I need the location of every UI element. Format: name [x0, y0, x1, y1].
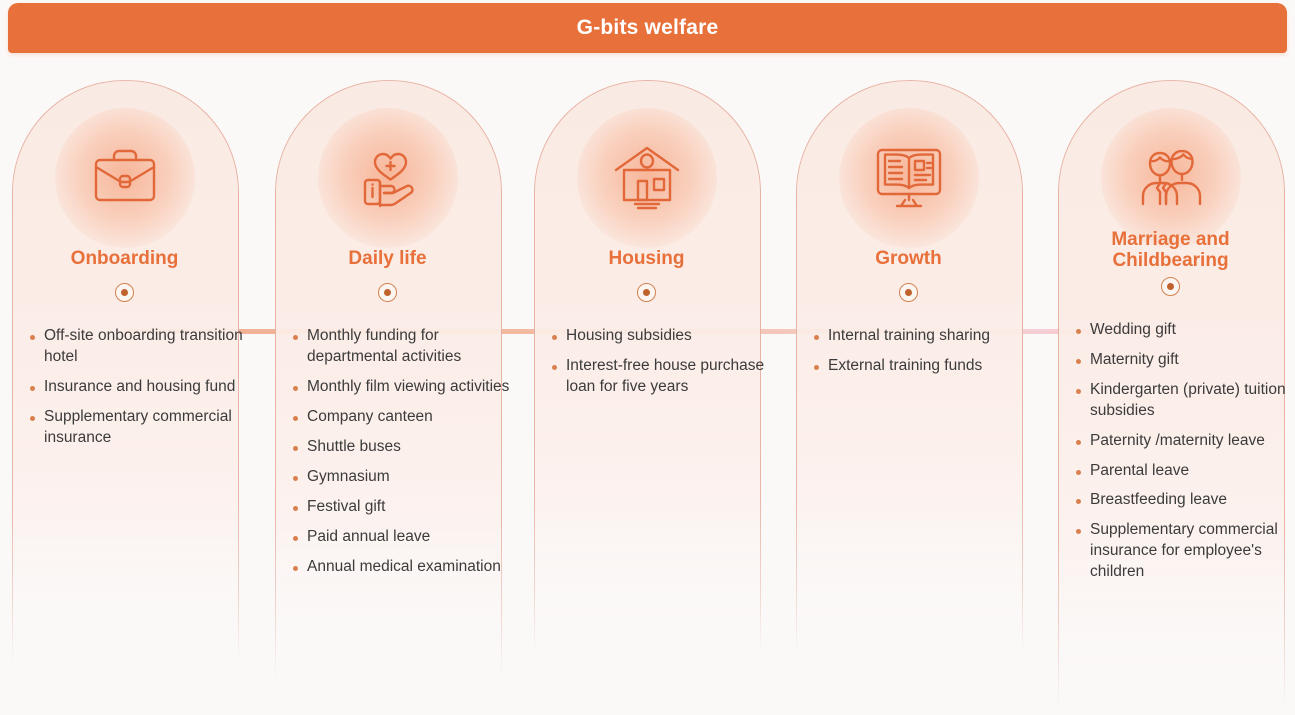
list-item: External training funds — [808, 356, 1033, 377]
list-item: Supplementary commercial insurance — [24, 407, 249, 449]
timeline-node[interactable] — [637, 283, 656, 302]
list-item: Company canteen — [287, 407, 512, 428]
list-item: Internal training sharing — [808, 326, 1033, 347]
list-item: Insurance and housing fund — [24, 377, 249, 398]
list-item: Festival gift — [287, 497, 512, 518]
list-item: Monthly film viewing activities — [287, 377, 512, 398]
list-item: Off-site onboarding transition hotel — [24, 326, 249, 368]
category-title: Housing — [547, 248, 747, 269]
timeline-node-dot — [1167, 283, 1174, 290]
timeline-node[interactable] — [899, 283, 918, 302]
list-item: Maternity gift — [1070, 350, 1295, 371]
timeline-node-dot — [905, 289, 912, 296]
list-item: Shuttle buses — [287, 437, 512, 458]
house-icon — [599, 128, 695, 224]
welfare-board: Onboarding Off-site onboarding transitio… — [0, 55, 1295, 715]
hand-heart-care-icon — [340, 128, 436, 224]
category-title: Onboarding — [25, 248, 225, 269]
timeline-node-dot — [643, 289, 650, 296]
list-item: Wedding gift — [1070, 320, 1295, 341]
timeline-node[interactable] — [378, 283, 397, 302]
list-item: Supplementary commercial insurance for e… — [1070, 520, 1295, 583]
benefit-list: Housing subsidies Interest-free house pu… — [522, 326, 771, 407]
category-title: Growth — [809, 248, 1009, 269]
welfare-category-growth[interactable]: Growth Internal training sharing Externa… — [796, 80, 1021, 402]
list-item: Paternity /maternity leave — [1070, 431, 1295, 452]
page-header-banner: G-bits welfare — [8, 3, 1287, 53]
timeline-node-dot — [121, 289, 128, 296]
list-item: Annual medical examination — [287, 557, 512, 578]
couple-icon — [1123, 128, 1219, 224]
list-item: Interest-free house purchase loan for fi… — [546, 356, 771, 398]
benefit-list: Off-site onboarding transition hotel Ins… — [0, 326, 249, 458]
list-item: Housing subsidies — [546, 326, 771, 347]
benefit-list: Internal training sharing External train… — [784, 326, 1033, 386]
welfare-category-daily-life[interactable]: Daily life Monthly funding for departmen… — [275, 80, 500, 603]
welfare-category-onboarding[interactable]: Onboarding Off-site onboarding transitio… — [12, 80, 237, 474]
benefit-list: Monthly funding for departmental activit… — [263, 326, 512, 586]
timeline-node[interactable] — [115, 283, 134, 302]
timeline-node-dot — [384, 289, 391, 296]
list-item: Monthly funding for departmental activit… — [287, 326, 512, 368]
category-title: Marriage and Childbearing — [1071, 229, 1271, 272]
timeline-node[interactable] — [1161, 277, 1180, 296]
page-title: G-bits welfare — [577, 16, 719, 40]
monitor-book-icon — [861, 128, 957, 224]
benefit-list: Wedding gift Maternity gift Kindergarten… — [1046, 320, 1295, 592]
list-item: Parental leave — [1070, 461, 1295, 482]
briefcase-icon — [77, 128, 173, 224]
category-title: Daily life — [288, 248, 488, 269]
list-item: Gymnasium — [287, 467, 512, 488]
welfare-category-marriage-childbearing[interactable]: Marriage and Childbearing Wedding gift M… — [1058, 80, 1283, 608]
list-item: Kindergarten (private) tuition subsidies — [1070, 380, 1295, 422]
list-item: Paid annual leave — [287, 527, 512, 548]
list-item: Breastfeeding leave — [1070, 490, 1295, 511]
welfare-category-housing[interactable]: Housing Housing subsidies Interest-free … — [534, 80, 759, 423]
